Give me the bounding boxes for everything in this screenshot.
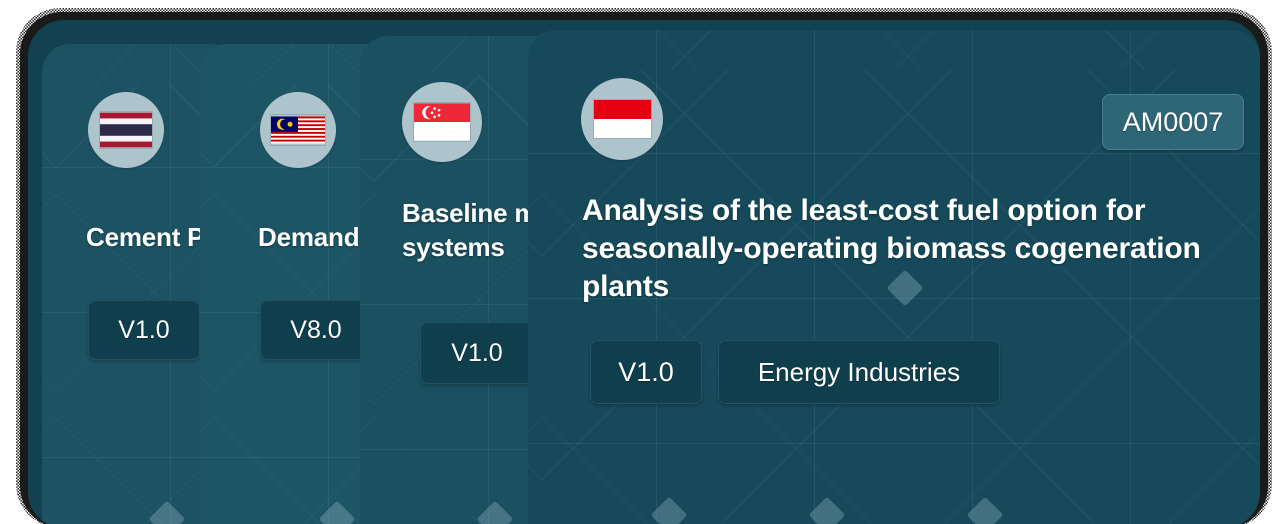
flag-indonesia-icon: [594, 100, 651, 138]
flag-avatar-malaysia: [260, 92, 336, 168]
card-stack-stage: Cement P V1.0: [0, 0, 1288, 524]
methodology-code-badge[interactable]: AM0007: [1102, 94, 1244, 150]
card-stack-frame: Cement P V1.0: [28, 20, 1260, 524]
card-title: Analysis of the least-cost fuel option f…: [582, 192, 1222, 306]
version-badge[interactable]: V1.0: [420, 322, 534, 384]
card-title: Cement P: [86, 222, 204, 253]
flag-malaysia-icon: [271, 115, 325, 145]
version-badge[interactable]: V1.0: [590, 340, 702, 404]
flag-thailand-icon: [100, 112, 152, 148]
flag-avatar-singapore: [402, 82, 482, 162]
flag-avatar-indonesia: [581, 78, 663, 160]
flag-singapore-icon: [414, 103, 470, 141]
version-badge[interactable]: V8.0: [260, 300, 372, 360]
version-badge[interactable]: V1.0: [88, 300, 200, 360]
flag-avatar-thailand: [88, 92, 164, 168]
methodology-card-indonesia[interactable]: AM0007 Analysis of the least-cost fuel o…: [528, 30, 1260, 524]
sector-badge[interactable]: Energy Industries: [718, 340, 1000, 404]
